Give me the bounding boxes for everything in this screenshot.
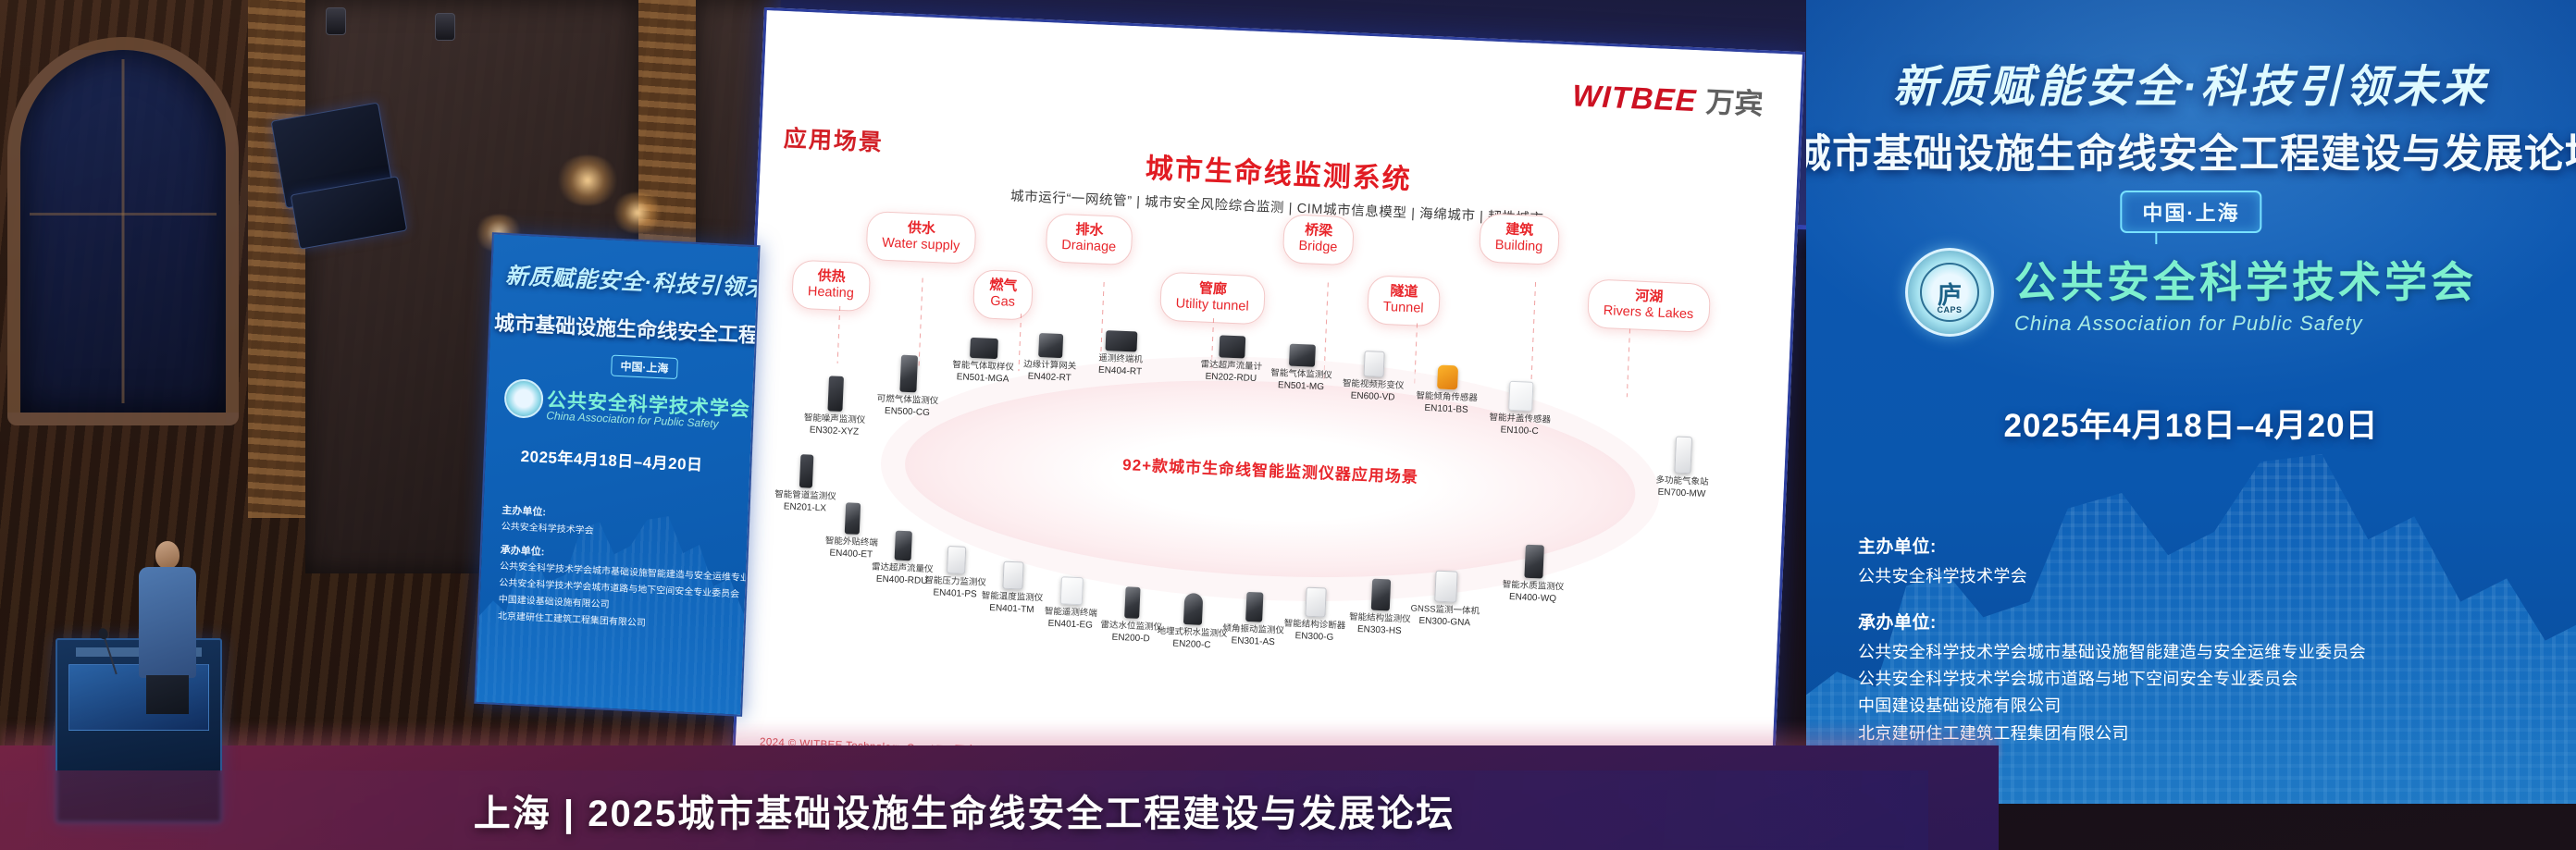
witbee-logo: WITBEE 万宾 xyxy=(1572,72,1765,122)
scene-label-cn: 隧道 xyxy=(1383,283,1425,302)
scene-bubble-rivers-lakes: 河湖 Rivers & Lakes xyxy=(1587,278,1711,332)
device-item: 多功能气象站 EN700-MW xyxy=(1631,435,1734,502)
device-item: GNSS监测一体机 EN300-GNA xyxy=(1394,569,1497,631)
forum-location-chip: 中国·上海 xyxy=(2120,191,2261,233)
scene-label-en: Drainage xyxy=(1061,238,1117,256)
forum-script-headline: 新质赋能安全·科技引领未来 xyxy=(1806,50,2576,115)
water-quality-sensor-icon xyxy=(1524,545,1544,579)
pipe-monitor-icon xyxy=(799,454,814,488)
presenter-head xyxy=(155,541,180,569)
caps-association-seal-icon: 庐 CAPS xyxy=(1905,248,1994,337)
scene-bubble-water-supply: 供水 Water supply xyxy=(865,211,976,265)
conference-stage-photo: WITBEE 万宾 应用场景 城市生命线监测系统 城市运行“一网统管” | 城市… xyxy=(0,0,2576,850)
scene-label-en: Bridge xyxy=(1298,239,1338,256)
sensor-icon xyxy=(827,376,844,412)
gateway-icon xyxy=(1038,333,1063,358)
scene-bubble-gas: 燃气 Gas xyxy=(972,269,1034,320)
manhole-sensor-icon xyxy=(1508,381,1533,412)
scene-label-en: Heating xyxy=(808,284,855,302)
forum-host-label: 主办单位: xyxy=(1858,533,2554,558)
presenter-legs xyxy=(146,675,189,714)
wood-pillar-left xyxy=(248,0,305,518)
poster-script-line: 新质赋能安全·科技引领未来 xyxy=(505,257,750,302)
scene-bubble-heating: 供热 Heating xyxy=(791,260,871,312)
left-led-poster: 新质赋能安全·科技引领未来 城市基础设施生命线安全工程建设与发展论坛 中国·上海… xyxy=(474,232,760,717)
scene-bubble-tunnel: 隧道 Tunnel xyxy=(1367,275,1441,326)
forum-date: 2025年4月18日–4月20日 xyxy=(1806,400,2576,447)
scene-label-cn: 燃气 xyxy=(989,277,1018,295)
stage-glow-1 xyxy=(555,155,620,205)
camera-icon xyxy=(1364,351,1385,377)
poster-association-seal xyxy=(503,378,544,419)
weather-station-icon xyxy=(1674,437,1692,474)
scene-label-en: Building xyxy=(1494,238,1542,255)
scene-bubble-drainage: 排水 Drainage xyxy=(1046,213,1133,265)
flowmeter-icon xyxy=(1219,335,1245,358)
forum-main-title: 城市基础设施生命线安全工程建设与发展论坛 xyxy=(1806,122,2576,179)
poster-units: 主办单位: 公共安全科学技术学会 承办单位: 公共安全科学技术学会城市基础设施智… xyxy=(498,494,741,635)
structure-diagnostic-icon xyxy=(1305,587,1326,618)
poster-location-chip: 中国·上海 xyxy=(611,355,678,380)
structure-monitor-icon xyxy=(1371,579,1391,611)
forum-units-block: 主办单位: 公共安全科学技术学会 承办单位: 公共安全科学技术学会城市基础设施智… xyxy=(1858,533,2554,747)
poster-date: 2025年4月18日–4月20日 xyxy=(520,443,703,475)
projection-screen: WITBEE 万宾 应用场景 城市生命线监测系统 城市运行“一网统管” | 城市… xyxy=(732,7,1805,819)
hall-arch-window xyxy=(7,37,239,425)
scene-label-en: Rivers & Lakes xyxy=(1603,303,1693,323)
gas-sensor-icon xyxy=(1289,344,1316,367)
scene-label-en: Water supply xyxy=(882,235,960,254)
truss-spotlight-2 xyxy=(435,13,455,41)
forum-coorg-value: 公共安全科学技术学会城市道路与地下空间安全专业委员会 xyxy=(1858,666,2554,693)
presentation-slide: WITBEE 万宾 应用场景 城市生命线监测系统 城市运行“一网统管” | 城市… xyxy=(735,10,1802,816)
presenter-body xyxy=(139,567,196,678)
device-item: 智能水质监测仪 EN400-WQ xyxy=(1482,543,1585,607)
presenter-person xyxy=(139,541,196,708)
truss-spotlight-1 xyxy=(326,7,346,35)
telemetry-terminal-icon xyxy=(1060,576,1084,605)
gnss-icon xyxy=(1434,571,1457,603)
scene-label-cn: 桥梁 xyxy=(1299,222,1339,240)
forum-org-en: China Association for Public Safety xyxy=(2014,312,2477,336)
tilt-sensor-icon xyxy=(1437,364,1458,389)
forum-org-cn: 公共安全科学技术学会 xyxy=(2014,249,2477,310)
flood-sensor-icon xyxy=(1183,593,1203,625)
scene-label-en: Tunnel xyxy=(1382,300,1424,317)
water-level-sensor-icon xyxy=(1124,586,1140,619)
scene-bubble-utility-tunnel: 管廊 Utility tunnel xyxy=(1159,272,1266,326)
caption-text: 上海 | 2025城市基础设施生命线安全工程建设与发展论坛 xyxy=(474,783,1455,837)
bottom-caption-band: 上海 | 2025城市基础设施生命线安全工程建设与发展论坛 xyxy=(0,770,1928,850)
gateway-icon xyxy=(970,338,998,359)
poster-main-title: 城市基础设施生命线安全工程建设与发展论坛 xyxy=(494,306,756,349)
witbee-logo-en: WITBEE xyxy=(1572,78,1698,118)
scene-label-en: Gas xyxy=(988,293,1017,310)
scene-label-en: Utility tunnel xyxy=(1175,296,1249,314)
device-item: 智能井盖传感器 EN100-C xyxy=(1469,379,1571,439)
seal-caps-text: CAPS xyxy=(1908,305,1991,314)
scene-bubble-bridge: 桥梁 Bridge xyxy=(1282,214,1355,265)
vibration-sensor-icon xyxy=(1245,592,1263,622)
forum-host-block: 主办单位: 公共安全科学技术学会 xyxy=(1858,533,2554,590)
forum-coorg-value: 中国建设基础设施有限公司 xyxy=(1858,693,2554,720)
sensor-icon xyxy=(899,355,918,393)
stage-glow-2 xyxy=(611,192,664,233)
scene-label-cn: 供热 xyxy=(808,267,855,286)
scene-bubble-building: 建筑 Building xyxy=(1479,213,1560,265)
right-led-wall: 新质赋能安全·科技引领未来 城市基础设施生命线安全工程建设与发展论坛 中国·上海… xyxy=(1806,0,2576,804)
forum-host-value: 公共安全科学技术学会 xyxy=(1858,563,2554,590)
witbee-logo-cn: 万宾 xyxy=(1705,79,1765,123)
temperature-sensor-icon xyxy=(1002,561,1023,590)
terminal-icon xyxy=(1105,330,1137,351)
scene-label-cn: 建筑 xyxy=(1495,221,1543,240)
forum-organizer-text: 公共安全科学技术学会 China Association for Public … xyxy=(2014,249,2477,336)
forum-organizer-row: 庐 CAPS 公共安全科学技术学会 China Association for … xyxy=(1806,248,2576,337)
forum-coorg-label: 承办单位: xyxy=(1858,609,2554,634)
device-item: 遥测终端机 EN404-RT xyxy=(1070,329,1171,380)
forum-coorg-value: 公共安全科学技术学会城市基础设施智能建造与安全运维专业委员会 xyxy=(1858,639,2554,666)
